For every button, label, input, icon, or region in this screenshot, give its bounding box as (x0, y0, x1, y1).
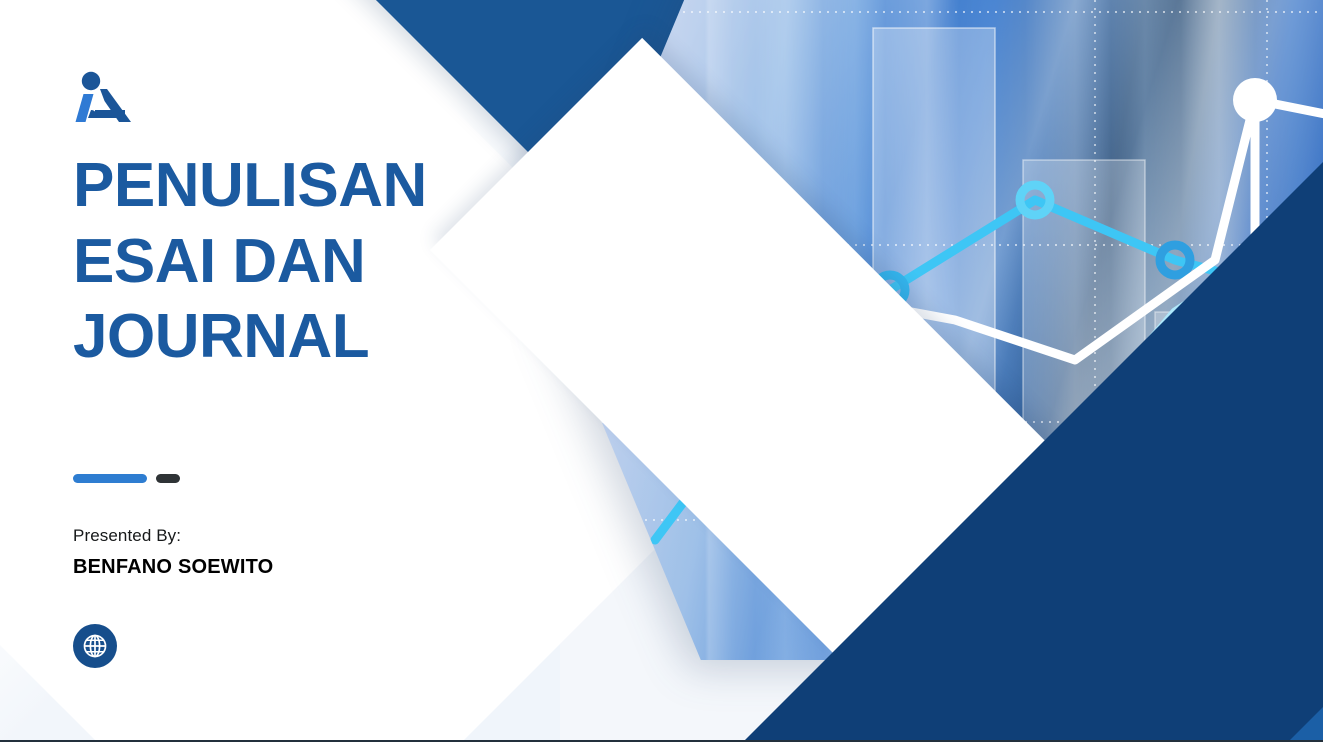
presentation-slide: PENULISANESAI DANJOURNAL Presented By: B… (0, 0, 1323, 742)
presented-by-label: Presented By: (73, 526, 181, 546)
title-line-1: PENULISAN (73, 151, 427, 220)
accent-rule-blue (73, 474, 147, 483)
slide-content: PENULISANESAI DANJOURNAL Presented By: B… (73, 0, 543, 742)
title-line-2: ESAI DAN (73, 227, 365, 296)
globe-badge[interactable] (73, 624, 117, 668)
accent-rule-dark (156, 474, 180, 483)
globe-icon (81, 632, 109, 660)
accent-rules (73, 474, 180, 483)
ia-logo-icon (73, 70, 139, 126)
presenter-name: BENFANO SOEWITO (73, 556, 273, 579)
title-line-3: JOURNAL (73, 302, 369, 371)
page-title: PENULISANESAI DANJOURNAL (73, 148, 543, 375)
